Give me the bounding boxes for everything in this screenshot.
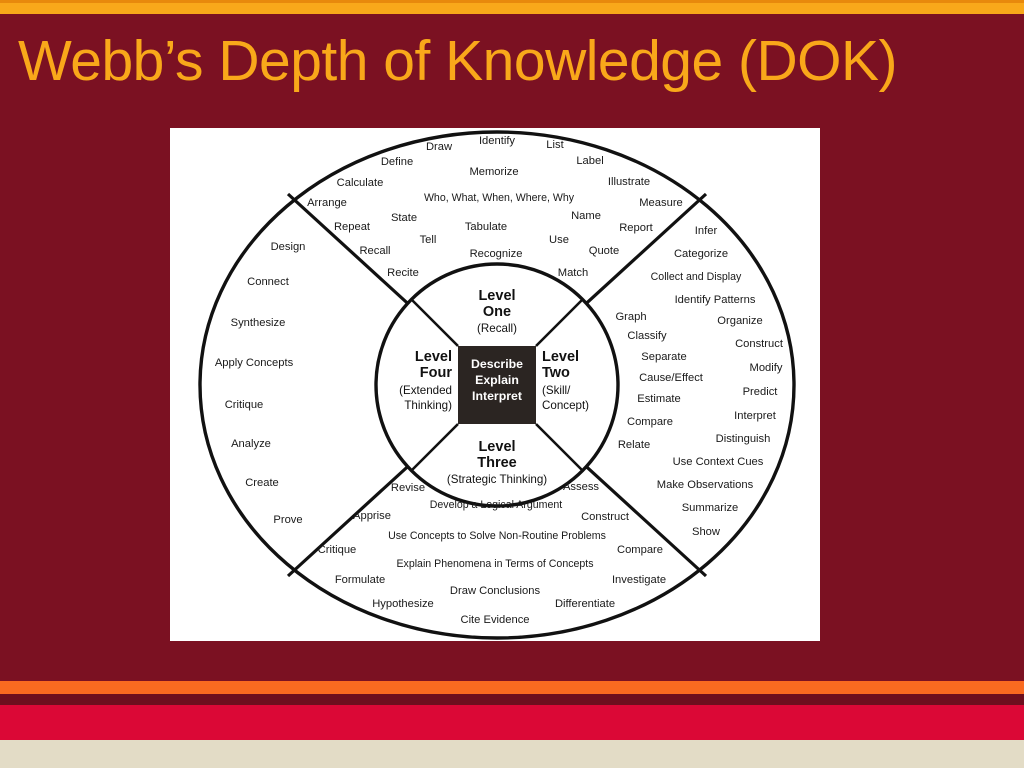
verb-label: Construct bbox=[581, 511, 630, 523]
verb-label: Recognize bbox=[470, 248, 523, 260]
verb-label: Use bbox=[549, 234, 569, 246]
verb-label: Predict bbox=[743, 386, 779, 398]
decorative-band-bottom-orange bbox=[0, 681, 1024, 694]
verb-label: Quote bbox=[589, 245, 619, 257]
verb-label: Memorize bbox=[469, 166, 518, 178]
verb-label: Apply Concepts bbox=[215, 357, 294, 369]
verb-label: Graph bbox=[615, 311, 646, 323]
hub-line-explain: Explain bbox=[475, 373, 519, 387]
decorative-band-bottom-crimson bbox=[0, 705, 1024, 740]
verb-label: Illustrate bbox=[608, 176, 650, 188]
verb-label: Hypothesize bbox=[372, 598, 434, 610]
verb-label: Modify bbox=[750, 362, 783, 374]
verb-label: Critique bbox=[225, 399, 264, 411]
level-two-descriptor-line2: Concept) bbox=[542, 399, 589, 412]
verb-label: Repeat bbox=[334, 221, 371, 233]
verb-label: Revise bbox=[391, 482, 425, 494]
verb-label: Arrange bbox=[307, 197, 347, 209]
verb-label: Measure bbox=[639, 197, 683, 209]
verb-label: Prove bbox=[273, 514, 302, 526]
level-four-descriptor-line2: Thinking) bbox=[404, 399, 452, 412]
verb-label: Use Concepts to Solve Non-Routine Proble… bbox=[388, 530, 606, 542]
verb-label: Investigate bbox=[612, 574, 666, 586]
verb-label: Develop a Logical Argument bbox=[430, 499, 563, 511]
verb-label: Design bbox=[271, 241, 306, 253]
verb-label: Classify bbox=[627, 330, 667, 342]
decorative-band-bottom-dark bbox=[0, 694, 1024, 705]
verb-label: Assess bbox=[563, 481, 599, 493]
verb-label: Who, What, When, Where, Why bbox=[424, 192, 575, 204]
level-two-descriptor-line1: (Skill/ bbox=[542, 384, 571, 397]
verb-label: Estimate bbox=[637, 393, 681, 405]
verb-label: Critique bbox=[318, 544, 357, 556]
verb-label: Categorize bbox=[674, 248, 728, 260]
verb-label: Distinguish bbox=[716, 433, 771, 445]
verb-label: Recite bbox=[387, 267, 419, 279]
slide: Webb’s Depth of Knowledge (DOK) Describe… bbox=[0, 0, 1024, 768]
level-three-title-line1: Level bbox=[478, 439, 515, 455]
verb-label: Identify bbox=[479, 135, 515, 147]
verb-label: Interpret bbox=[734, 410, 777, 422]
verb-label: Analyze bbox=[231, 438, 271, 450]
hub-line-interpret: Interpret bbox=[472, 389, 522, 403]
decorative-band-top-orange bbox=[0, 3, 1024, 14]
verb-label: Make Observations bbox=[657, 479, 754, 491]
verb-label: Differentiate bbox=[555, 598, 615, 610]
verb-label: Collect and Display bbox=[651, 271, 742, 283]
dok-wheel-diagram: Describe Explain Interpret Level One (Re… bbox=[170, 128, 820, 641]
level-three-title-line2: Three bbox=[477, 455, 517, 471]
verb-label: Label bbox=[576, 155, 603, 167]
level-three-descriptor: (Strategic Thinking) bbox=[447, 473, 547, 486]
level-two-title-line2: Two bbox=[542, 365, 570, 381]
verb-label: Separate bbox=[641, 351, 686, 363]
verb-label: Compare bbox=[617, 544, 663, 556]
level-one-title-line1: Level bbox=[478, 288, 515, 304]
diagram-panel: Describe Explain Interpret Level One (Re… bbox=[170, 128, 820, 641]
verb-label: Report bbox=[619, 222, 653, 234]
verb-label: Synthesize bbox=[231, 317, 286, 329]
verb-label: Construct bbox=[735, 338, 784, 350]
verb-label: Use Context Cues bbox=[673, 456, 764, 468]
verb-label: Organize bbox=[717, 315, 762, 327]
verb-label: Infer bbox=[695, 225, 718, 237]
level-four-descriptor-line1: (Extended bbox=[399, 384, 452, 397]
decorative-band-bottom-maroon bbox=[0, 670, 1024, 681]
verb-label: Identify Patterns bbox=[675, 294, 756, 306]
verb-label: Calculate bbox=[337, 177, 384, 189]
verb-label: Define bbox=[381, 156, 413, 168]
verb-label: Tabulate bbox=[465, 221, 507, 233]
verb-label: Summarize bbox=[682, 502, 739, 514]
verb-label: Show bbox=[692, 526, 721, 538]
verb-label: Apprise bbox=[353, 510, 391, 522]
verb-label: Cite Evidence bbox=[460, 614, 529, 626]
verb-label: Connect bbox=[247, 276, 290, 288]
verb-label: Tell bbox=[420, 234, 437, 246]
level-four-title-line2: Four bbox=[420, 365, 453, 381]
verb-label: Compare bbox=[627, 416, 673, 428]
verb-label: Cause/Effect bbox=[639, 372, 704, 384]
level-four-title-line1: Level bbox=[415, 349, 452, 365]
verb-label: Create bbox=[245, 477, 279, 489]
verb-label: Relate bbox=[618, 439, 650, 451]
page-title: Webb’s Depth of Knowledge (DOK) bbox=[18, 30, 1008, 92]
level-one-descriptor: (Recall) bbox=[477, 322, 517, 335]
verb-label: Draw bbox=[426, 141, 453, 153]
level-two-title-line1: Level bbox=[542, 349, 579, 365]
verb-label: State bbox=[391, 212, 417, 224]
verb-label: Name bbox=[571, 210, 601, 222]
verb-label: Draw Conclusions bbox=[450, 585, 541, 597]
level-one-title-line2: One bbox=[483, 304, 511, 320]
verb-label: Explain Phenomena in Terms of Concepts bbox=[396, 558, 593, 570]
hub-line-describe: Describe bbox=[471, 357, 523, 371]
verb-label: List bbox=[546, 139, 564, 151]
verb-label: Formulate bbox=[335, 574, 385, 586]
decorative-band-bottom-beige bbox=[0, 740, 1024, 768]
verb-label: Match bbox=[558, 267, 588, 279]
verb-label: Recall bbox=[359, 245, 390, 257]
